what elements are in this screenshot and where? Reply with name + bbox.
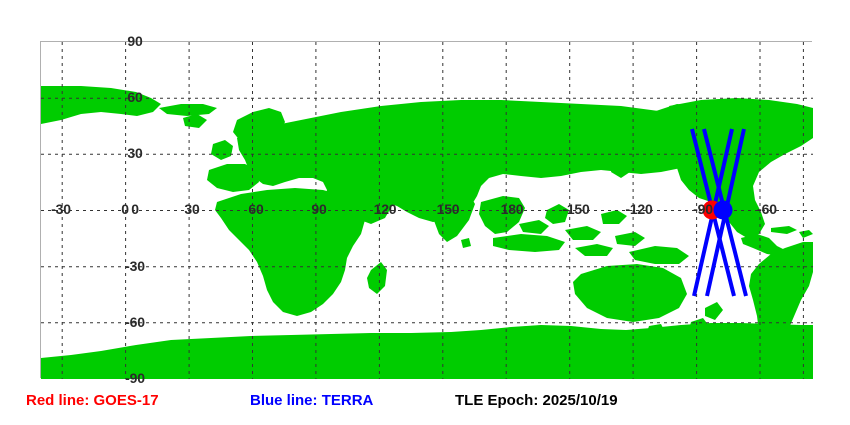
lat-label-60: 60 xyxy=(127,90,142,104)
legend-blue-value: TERRA xyxy=(322,392,374,409)
legend-red-label: Red line: xyxy=(26,392,89,409)
lat-label-30: 30 xyxy=(127,146,142,160)
legend-red-line: Red line: GOES-17 xyxy=(26,393,159,408)
lon-label-0: 0 xyxy=(121,202,129,216)
satellite-ground-track-map: 90 60 30 0 -30 -60 -90 -30 0 30 60 90 12… xyxy=(0,0,850,425)
lat-label--30: -30 xyxy=(125,259,145,273)
lon-label--90: -90 xyxy=(693,202,713,216)
lat-label--60: -60 xyxy=(125,315,145,329)
legend-bar: Red line: GOES-17 Blue line: TERRA TLE E… xyxy=(0,393,850,419)
lon-label--120: -120 xyxy=(625,202,652,216)
lon-label-90: 90 xyxy=(311,202,326,216)
lon-label-30: 30 xyxy=(184,202,199,216)
legend-blue-line: Blue line: TERRA xyxy=(250,393,373,408)
lon-label--60: -60 xyxy=(757,202,777,216)
lon-label-150: 150 xyxy=(437,202,460,216)
lat-label--90: -90 xyxy=(125,371,145,385)
lon-label--150: -150 xyxy=(562,202,589,216)
terra-position-marker xyxy=(714,201,733,220)
lon-label--30: -30 xyxy=(51,202,71,216)
legend-tle-epoch: TLE Epoch: 2025/10/19 xyxy=(455,393,618,408)
lon-label-60: 60 xyxy=(248,202,263,216)
lon-label-120: 120 xyxy=(374,202,397,216)
legend-red-value: GOES-17 xyxy=(94,392,159,409)
lon-label-180: 180 xyxy=(501,202,524,216)
legend-tle-label: TLE Epoch: xyxy=(455,392,538,409)
lat-label-0: 0 xyxy=(131,202,139,216)
lat-label-90: 90 xyxy=(127,34,142,48)
legend-tle-value: 2025/10/19 xyxy=(543,392,618,409)
legend-blue-label: Blue line: xyxy=(250,392,318,409)
